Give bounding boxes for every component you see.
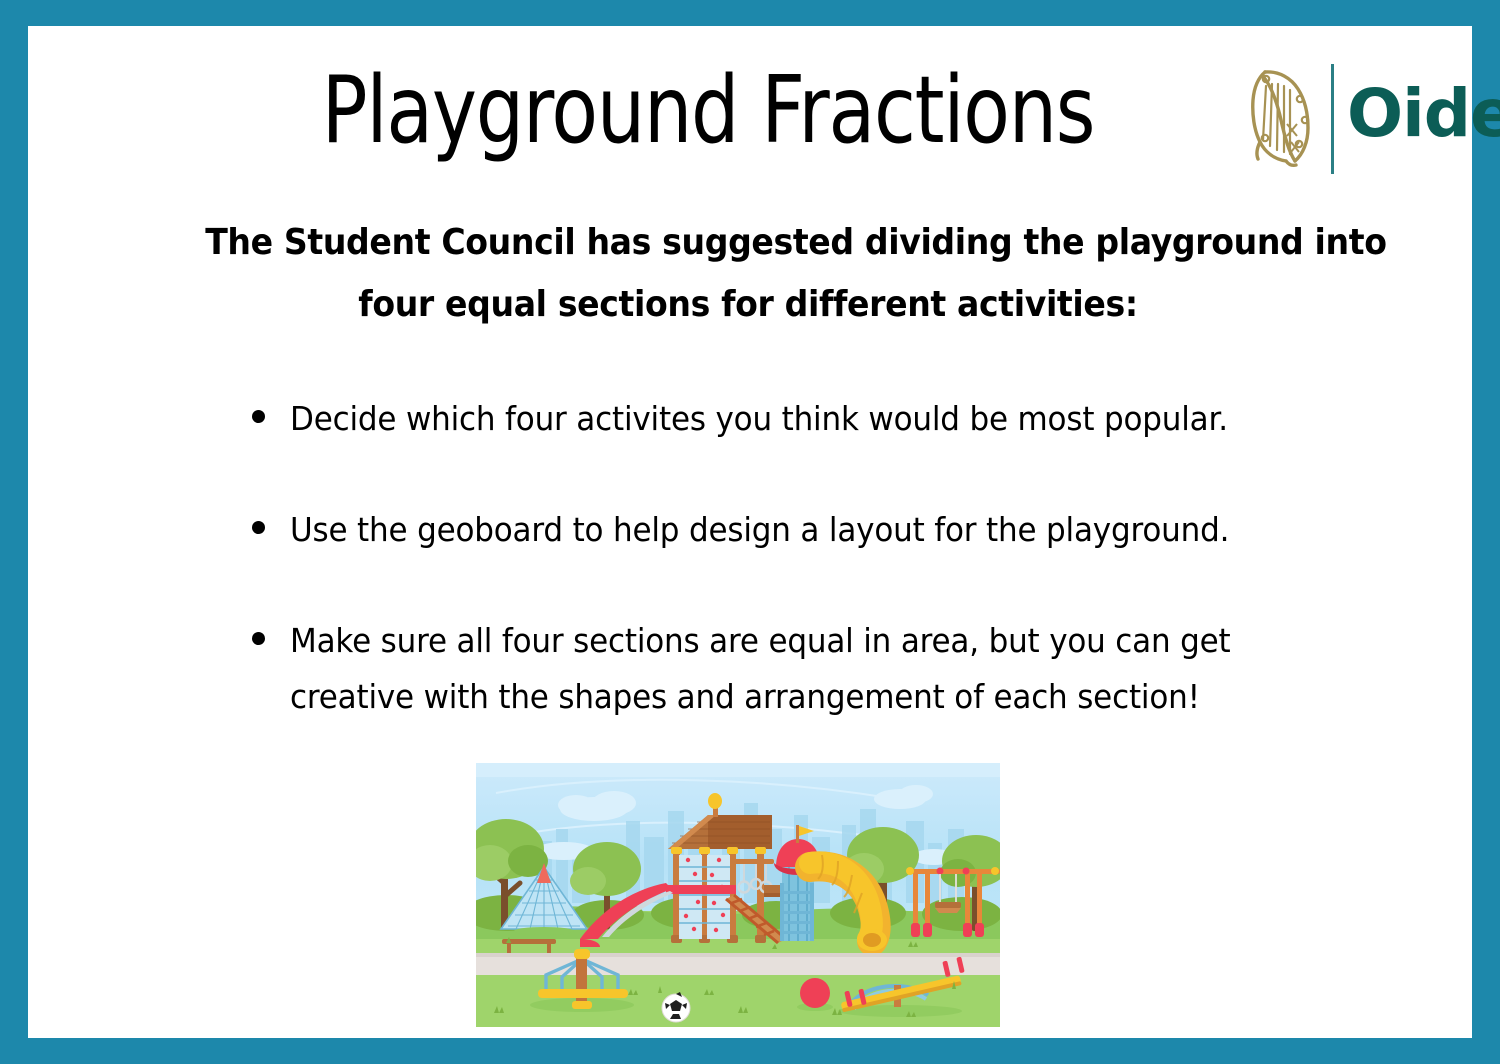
oide-wordmark: Oide	[1347, 76, 1500, 152]
bullet-dot-icon	[252, 632, 265, 645]
subtitle-line-1: The Student Council has suggested dividi…	[205, 212, 1291, 274]
list-item: Decide which four activites you think wo…	[228, 391, 1348, 447]
irish-harp-icon	[1241, 62, 1317, 174]
subtitle-line-2: four equal sections for different activi…	[205, 274, 1291, 336]
list-item-line: creative with the shapes and arrangement…	[290, 669, 1285, 725]
subtitle: The Student Council has suggested dividi…	[205, 212, 1291, 336]
list-item-line: Decide which four activites you think wo…	[290, 391, 1285, 447]
oide-logo: Oide	[1221, 54, 1500, 184]
list-item-text: Make sure all four sections are equal in…	[290, 613, 1285, 725]
list-item-text: Decide which four activites you think wo…	[290, 391, 1285, 447]
list-item-line: Use the geoboard to help design a layout…	[290, 502, 1285, 558]
slide-canvas: Playground Fractions	[28, 26, 1472, 1038]
list-item-line: Make sure all four sections are equal in…	[290, 613, 1285, 669]
list-item: Make sure all four sections are equal in…	[228, 613, 1348, 725]
page-title: Playground Fractions	[273, 58, 1142, 162]
bullet-dot-icon	[252, 410, 265, 423]
instruction-list: Decide which four activites you think wo…	[228, 391, 1348, 780]
list-item-text: Use the geoboard to help design a layout…	[290, 502, 1285, 558]
list-item: Use the geoboard to help design a layout…	[228, 502, 1348, 558]
playground-illustration	[476, 763, 1000, 1027]
logo-divider	[1331, 64, 1334, 174]
bullet-dot-icon	[252, 521, 265, 534]
slide-border: Playground Fractions	[0, 0, 1500, 1064]
